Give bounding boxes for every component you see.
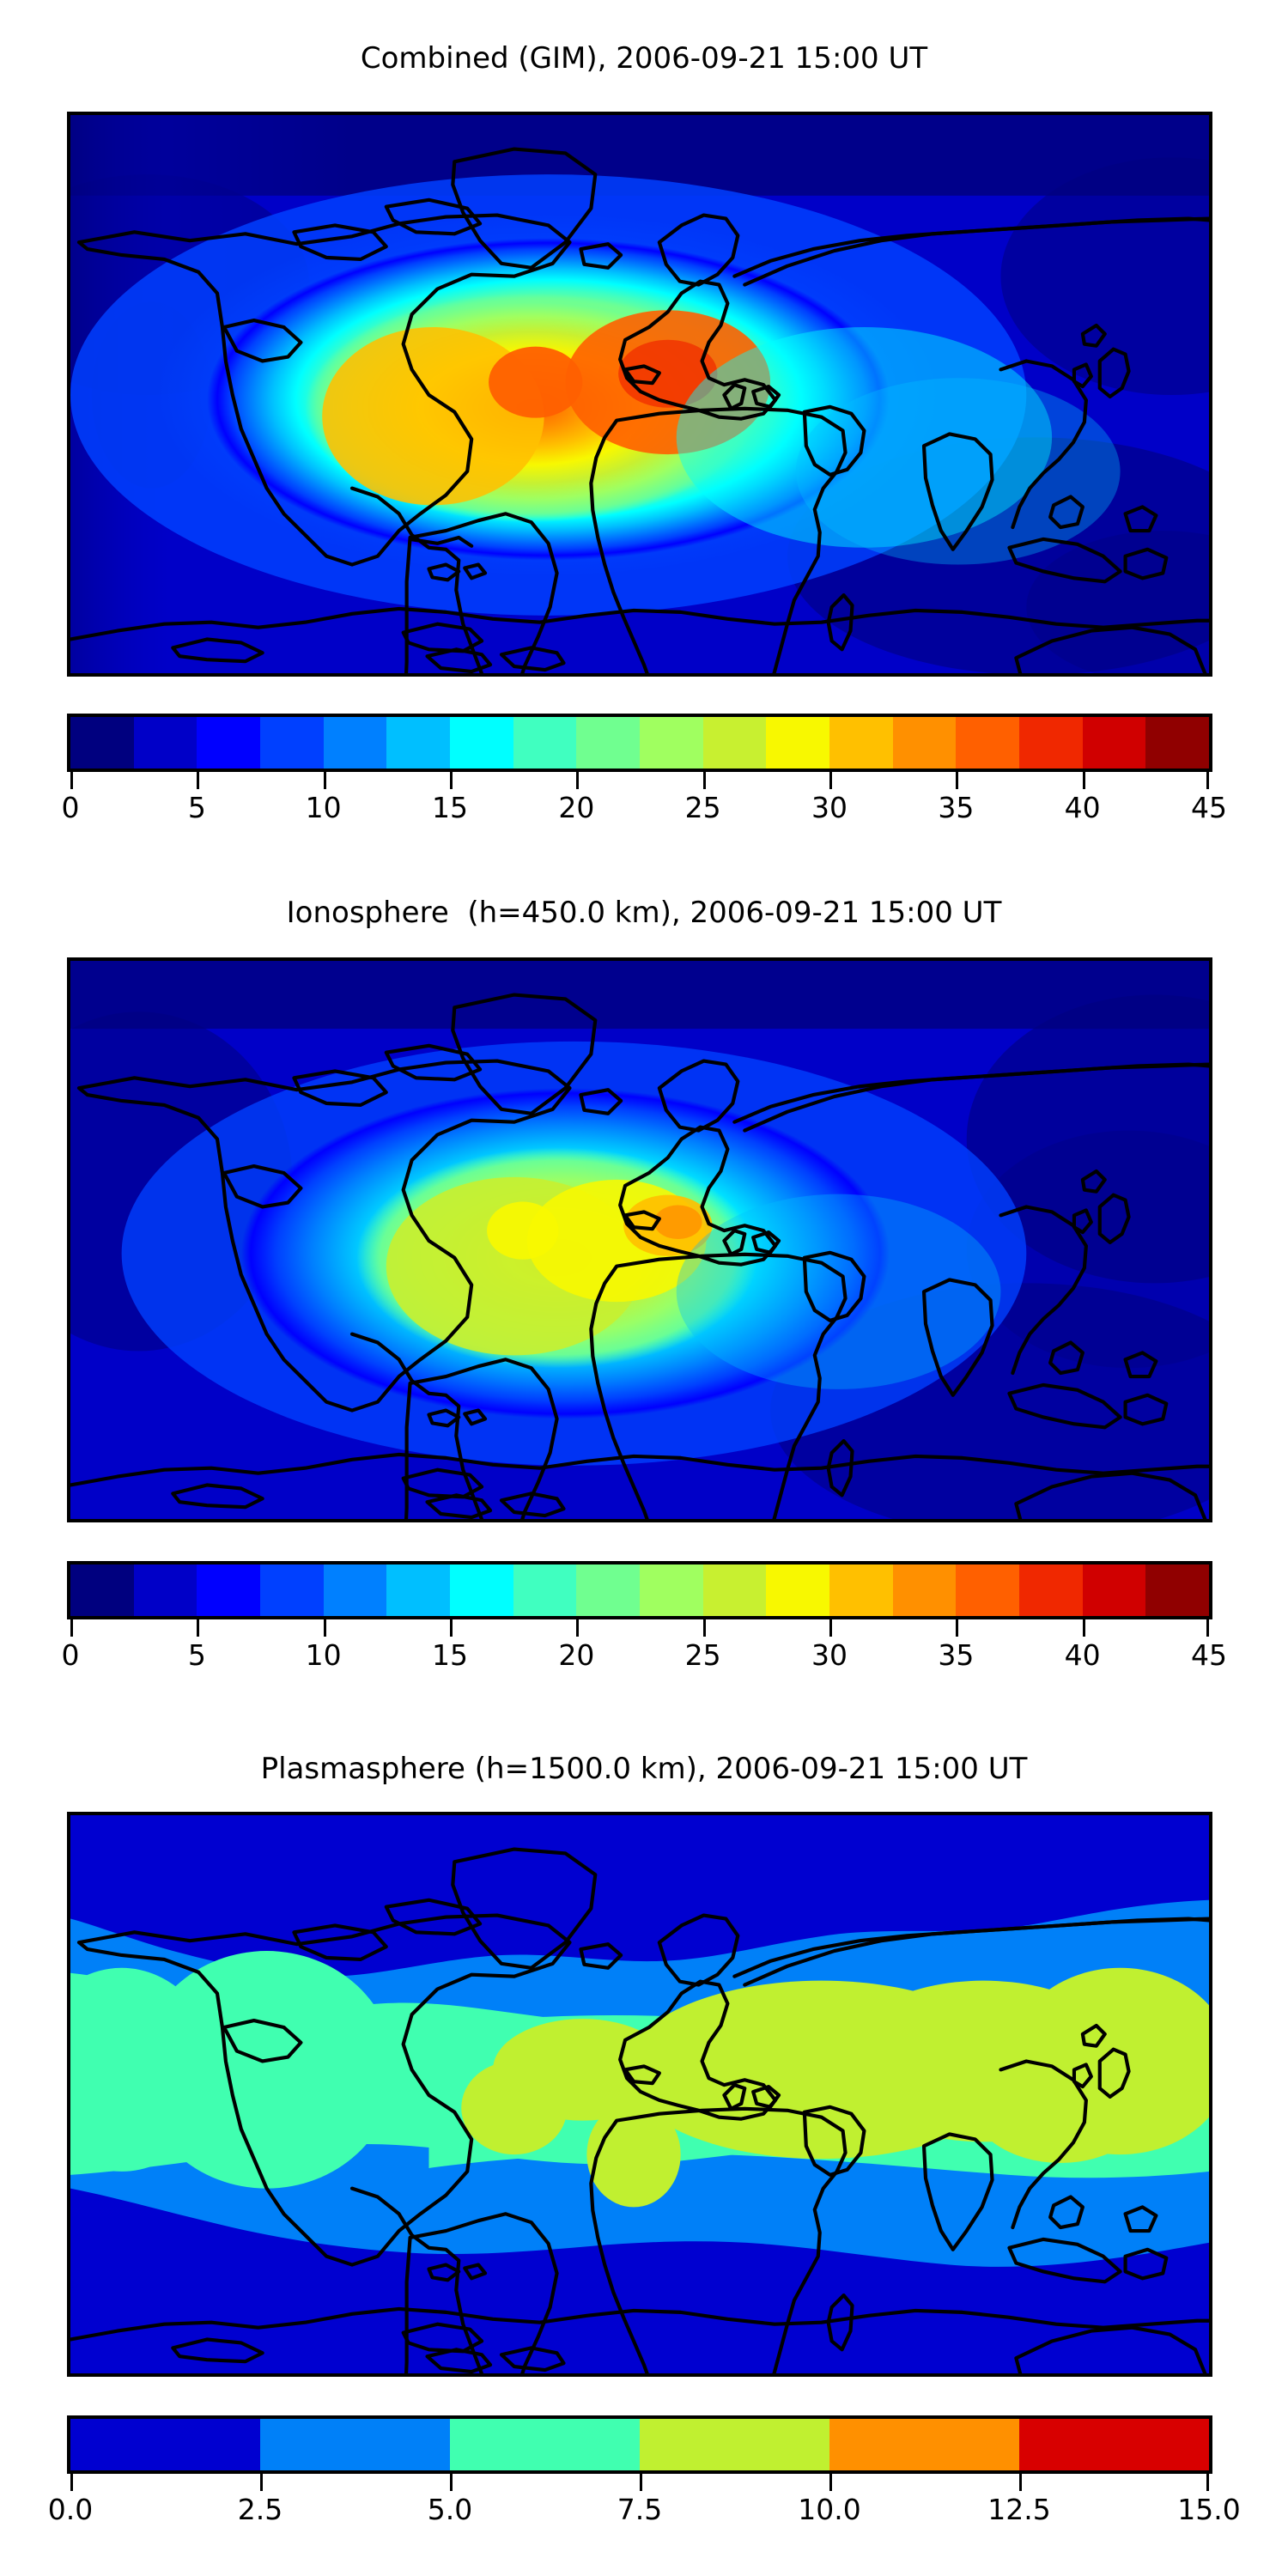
colorbar-band-4 xyxy=(324,1564,387,1616)
colorbar-band-6 xyxy=(450,717,513,769)
colorbar-tick-8 xyxy=(1083,1619,1085,1637)
colorbar-tick-label-6: 30 xyxy=(811,1638,848,1672)
panel-title-combined: Combined (GIM), 2006-09-21 15:00 UT xyxy=(0,41,1288,76)
colorbar-tick-0 xyxy=(70,772,73,789)
colorbar-band-2 xyxy=(197,1564,260,1616)
colorbar-tick-label-5: 12.5 xyxy=(987,2493,1050,2526)
colorbar-band-14 xyxy=(956,1564,1019,1616)
colorbar-tick-label-2: 10 xyxy=(306,791,342,824)
colorbar-tick-7 xyxy=(956,772,958,789)
colorbar-tick-label-0: 0.0 xyxy=(48,2493,93,2526)
map-combined-gim xyxy=(67,112,1212,677)
map-ionosphere xyxy=(67,957,1212,1522)
colorbar-tick-label-2: 5.0 xyxy=(428,2493,472,2526)
colorbar-tick-label-0: 0 xyxy=(62,1638,80,1672)
colorbar-band-10 xyxy=(703,1564,767,1616)
colorbar-band-8 xyxy=(576,717,640,769)
colorbar-tick-6 xyxy=(829,1619,832,1637)
colorbar-tick-label-4: 10.0 xyxy=(798,2493,860,2526)
colorbar-band-6 xyxy=(450,1564,513,1616)
colorbar-band-0 xyxy=(70,1564,134,1616)
colorbar-tick-5 xyxy=(1019,2474,1022,2491)
colorbar-tick-label-1: 2.5 xyxy=(238,2493,283,2526)
colorbar-tick-label-3: 15 xyxy=(432,791,468,824)
colorbar-tick-label-8: 40 xyxy=(1065,1638,1101,1672)
colorbar-tick-3 xyxy=(640,2474,642,2491)
colorbar-band-10 xyxy=(703,717,767,769)
map-svg-ionosphere xyxy=(70,961,1209,1519)
colorbar-bands-combined xyxy=(67,714,1212,772)
colorbar-tick-label-9: 45 xyxy=(1191,1638,1227,1672)
colorbar-plasmasphere: 0.02.55.07.510.012.515.0 xyxy=(67,2415,1212,2532)
colorbar-band-4 xyxy=(829,2419,1019,2470)
colorbar-band-9 xyxy=(640,717,703,769)
colorbar-tick-label-3: 7.5 xyxy=(617,2493,662,2526)
colorbar-tick-6 xyxy=(1206,2474,1209,2491)
panel-title-plasmasphere: Plasmasphere (h=1500.0 km), 2006-09-21 1… xyxy=(0,1752,1288,1786)
colorbar-band-1 xyxy=(260,2419,450,2470)
colorbar-tick-label-8: 40 xyxy=(1065,791,1101,824)
panel-plasmasphere: Plasmasphere (h=1500.0 km), 2006-09-21 1… xyxy=(0,1735,1288,2576)
colorbar-band-3 xyxy=(640,2419,829,2470)
colorbar-band-15 xyxy=(1019,1564,1083,1616)
colorbar-tick-label-0: 0 xyxy=(62,791,80,824)
colorbar-band-14 xyxy=(956,717,1019,769)
colorbar-band-11 xyxy=(766,1564,829,1616)
colorbar-band-7 xyxy=(513,1564,577,1616)
colorbar-band-1 xyxy=(134,1564,197,1616)
colorbar-band-17 xyxy=(1145,717,1209,769)
colorbar-band-5 xyxy=(386,717,450,769)
colorbar-combined: 051015202530354045 xyxy=(67,714,1212,830)
colorbar-tick-5 xyxy=(703,772,706,789)
colorbar-tick-label-6: 15.0 xyxy=(1177,2493,1240,2526)
colorbar-tick-1 xyxy=(197,772,199,789)
colorbar-tick-4 xyxy=(576,1619,579,1637)
colorbar-band-3 xyxy=(260,717,324,769)
colorbar-tick-label-6: 30 xyxy=(811,791,848,824)
map-svg-plasmasphere xyxy=(70,1815,1209,2373)
panel-ionosphere: Ionosphere (h=450.0 km), 2006-09-21 15:0… xyxy=(0,859,1288,1735)
colorbar-labels-plasmasphere: 0.02.55.07.510.012.515.0 xyxy=(67,2493,1212,2532)
colorbar-tick-label-2: 10 xyxy=(306,1638,342,1672)
colorbar-tick-1 xyxy=(197,1619,199,1637)
colorbar-tick-2 xyxy=(450,2474,453,2491)
colorbar-tick-label-5: 25 xyxy=(685,1638,721,1672)
map-plasmasphere xyxy=(67,1812,1212,2377)
colorbar-band-12 xyxy=(829,1564,893,1616)
colorbar-tick-label-4: 20 xyxy=(558,1638,594,1672)
colorbar-tick-5 xyxy=(703,1619,706,1637)
colorbar-ticks-combined xyxy=(67,772,1212,791)
panel-combined-gim: Combined (GIM), 2006-09-21 15:00 UT xyxy=(0,0,1288,859)
colorbar-tick-2 xyxy=(324,1619,326,1637)
colorbar-ionosphere: 051015202530354045 xyxy=(67,1561,1212,1678)
colorbar-band-0 xyxy=(70,717,134,769)
colorbar-tick-0 xyxy=(70,2474,73,2491)
colorbar-tick-9 xyxy=(1206,1619,1209,1637)
colorbar-tick-0 xyxy=(70,1619,73,1637)
map-svg-combined xyxy=(70,115,1209,673)
colorbar-band-5 xyxy=(386,1564,450,1616)
colorbar-tick-label-9: 45 xyxy=(1191,791,1227,824)
colorbar-band-5 xyxy=(1019,2419,1209,2470)
colorbar-tick-1 xyxy=(260,2474,263,2491)
colorbar-tick-label-5: 25 xyxy=(685,791,721,824)
colorbar-ticks-ionosphere xyxy=(67,1619,1212,1638)
colorbar-band-11 xyxy=(766,717,829,769)
colorbar-labels-ionosphere: 051015202530354045 xyxy=(67,1638,1212,1678)
colorbar-tick-2 xyxy=(324,772,326,789)
colorbar-band-0 xyxy=(70,2419,260,2470)
colorbar-bands-plasmasphere xyxy=(67,2415,1212,2474)
colorbar-ticks-plasmasphere xyxy=(67,2474,1212,2493)
colorbar-band-13 xyxy=(893,1564,957,1616)
colorbar-tick-label-7: 35 xyxy=(938,1638,974,1672)
colorbar-band-7 xyxy=(513,717,577,769)
colorbar-band-3 xyxy=(260,1564,324,1616)
colorbar-tick-4 xyxy=(576,772,579,789)
colorbar-band-12 xyxy=(829,717,893,769)
colorbar-band-2 xyxy=(197,717,260,769)
colorbar-tick-label-3: 15 xyxy=(432,1638,468,1672)
colorbar-tick-9 xyxy=(1206,772,1209,789)
colorbar-band-1 xyxy=(134,717,197,769)
colorbar-tick-6 xyxy=(829,772,832,789)
colorbar-tick-label-1: 5 xyxy=(188,791,206,824)
panel-title-ionosphere: Ionosphere (h=450.0 km), 2006-09-21 15:0… xyxy=(0,896,1288,930)
colorbar-band-4 xyxy=(324,717,387,769)
colorbar-band-13 xyxy=(893,717,957,769)
colorbar-tick-3 xyxy=(450,772,453,789)
colorbar-band-15 xyxy=(1019,717,1083,769)
colorbar-band-17 xyxy=(1145,1564,1209,1616)
colorbar-tick-label-1: 5 xyxy=(188,1638,206,1672)
colorbar-tick-7 xyxy=(956,1619,958,1637)
colorbar-band-16 xyxy=(1083,1564,1146,1616)
figure-canvas: Combined (GIM), 2006-09-21 15:00 UT xyxy=(0,0,1288,2576)
colorbar-band-9 xyxy=(640,1564,703,1616)
colorbar-tick-8 xyxy=(1083,772,1085,789)
colorbar-tick-label-7: 35 xyxy=(938,791,974,824)
colorbar-tick-4 xyxy=(829,2474,832,2491)
colorbar-band-2 xyxy=(450,2419,640,2470)
colorbar-tick-3 xyxy=(450,1619,453,1637)
colorbar-tick-label-4: 20 xyxy=(558,791,594,824)
colorbar-labels-combined: 051015202530354045 xyxy=(67,791,1212,830)
colorbar-band-8 xyxy=(576,1564,640,1616)
colorbar-band-16 xyxy=(1083,717,1146,769)
colorbar-bands-ionosphere xyxy=(67,1561,1212,1619)
